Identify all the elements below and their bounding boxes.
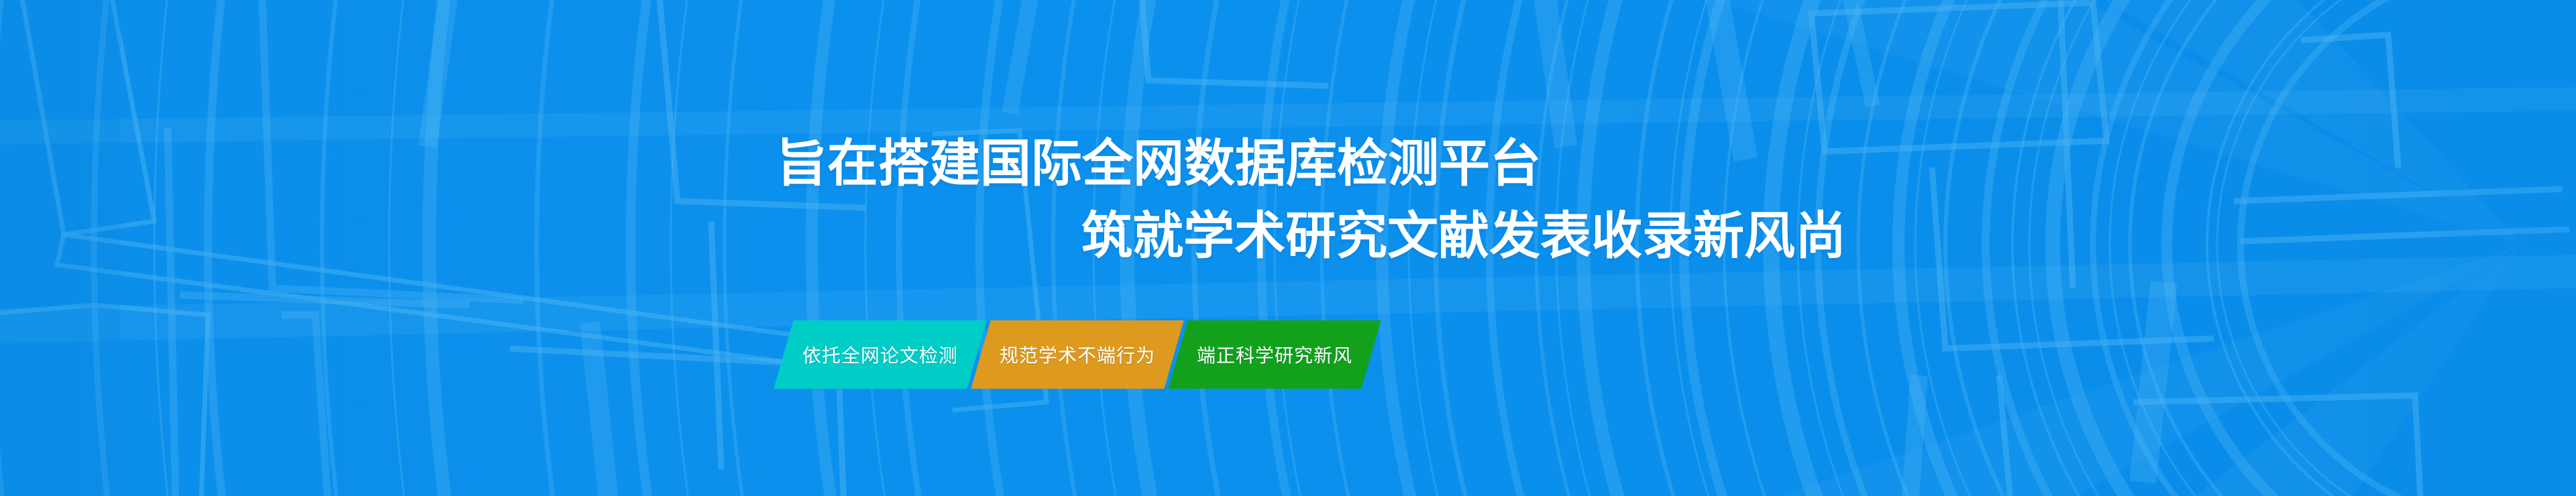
background-pattern: [0, 0, 2576, 496]
feature-tab-strip: 依托全网论文检测 规范学术不端行为 端正科学研究新风: [784, 320, 1371, 389]
feature-tab-misconduct-regulation[interactable]: 规范学术不端行为: [971, 320, 1183, 389]
feature-tab-research-integrity[interactable]: 端正科学研究新风: [1168, 320, 1381, 389]
feature-tab-label: 依托全网论文检测: [802, 341, 958, 368]
feature-tab-label: 端正科学研究新风: [1197, 341, 1352, 368]
feature-tab-label: 规范学术不端行为: [1000, 341, 1155, 368]
banner-root: 旨在搭建国际全网数据库检测平台 筑就学术研究文献发表收录新风尚 依托全网论文检测…: [0, 0, 2576, 496]
feature-tab-plagiarism-detection[interactable]: 依托全网论文检测: [773, 320, 986, 389]
